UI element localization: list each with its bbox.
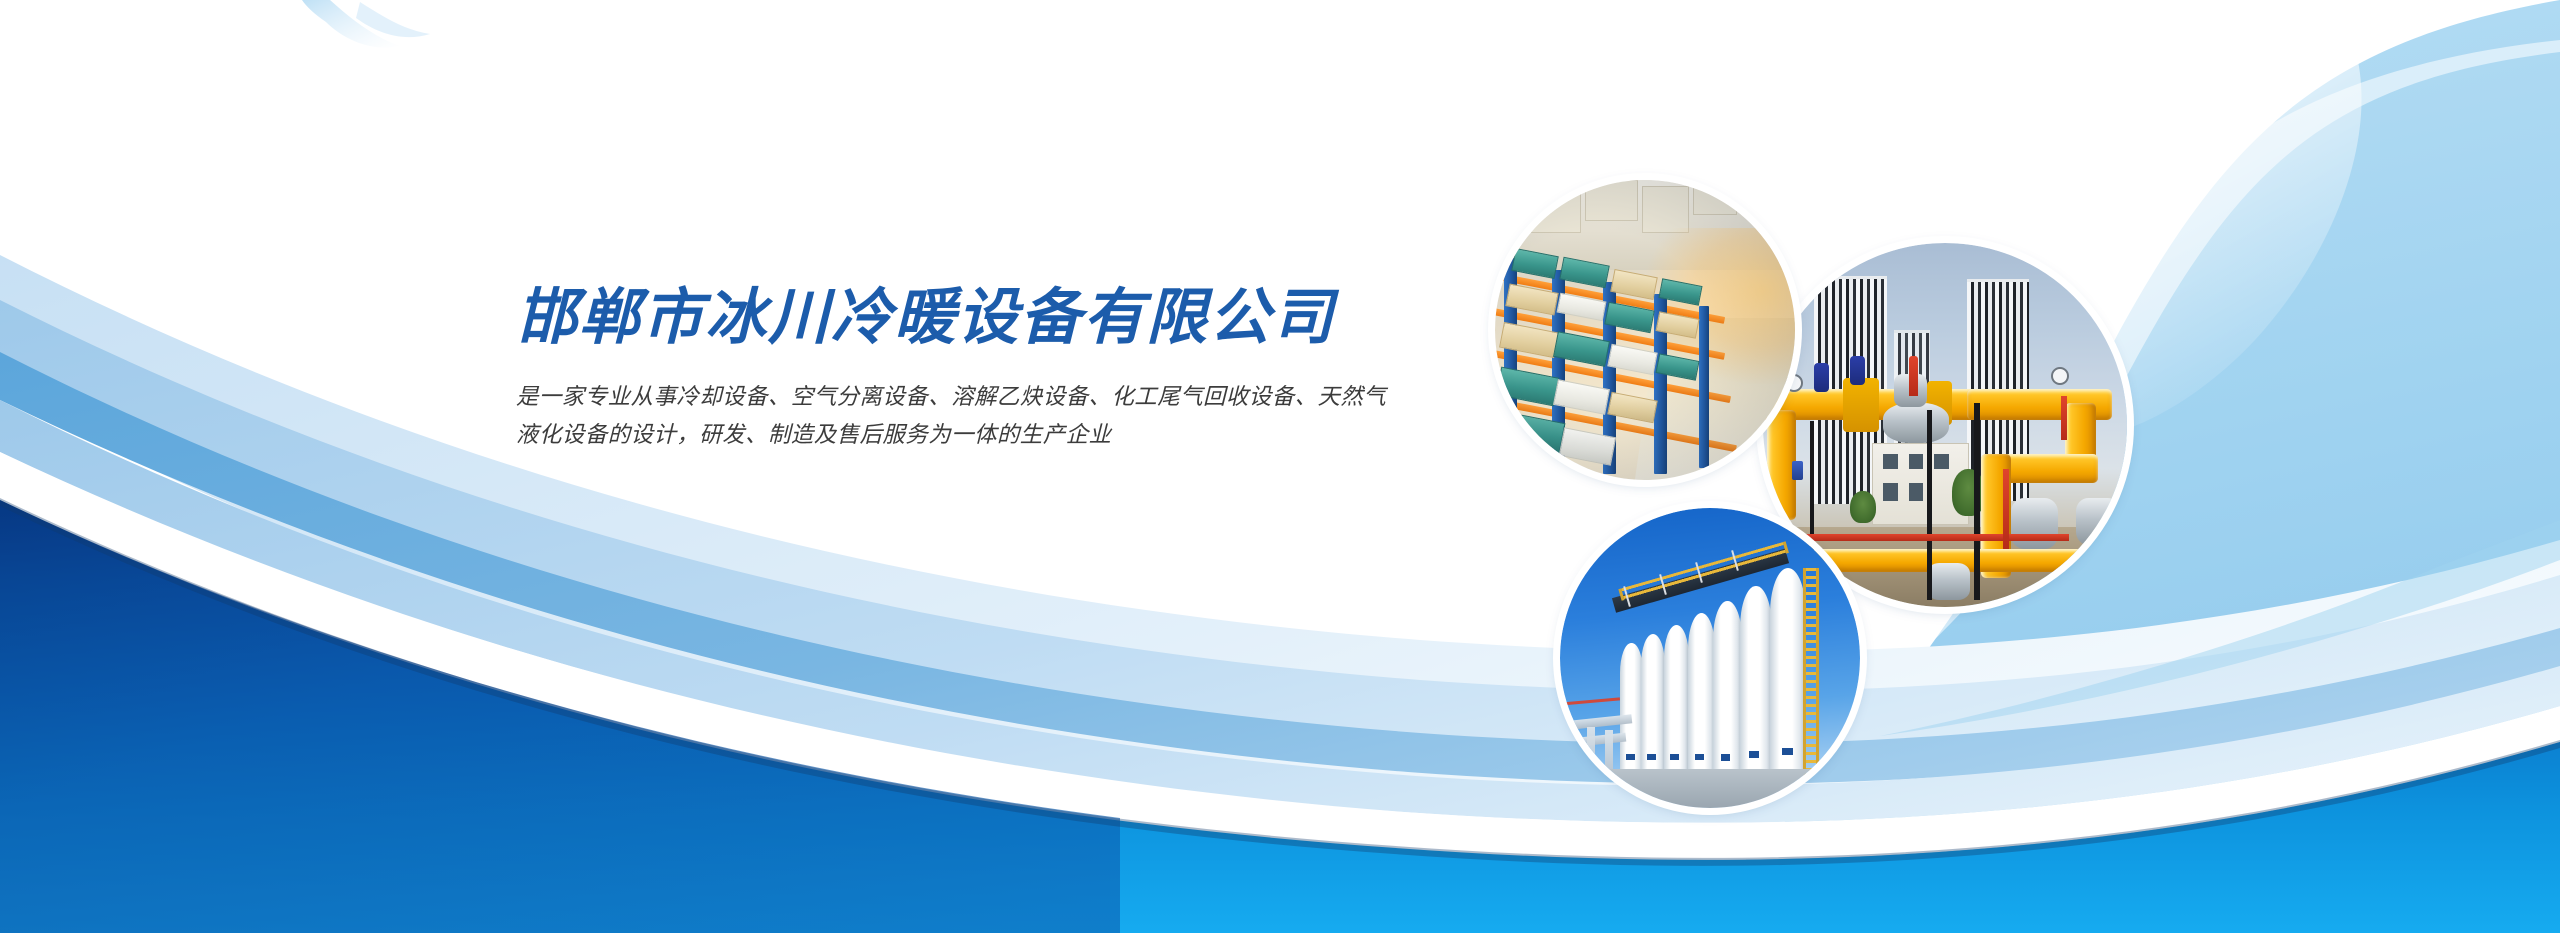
tank-nameplate (1647, 754, 1656, 760)
pipeline-regulator (1883, 403, 1949, 443)
building-window (1934, 454, 1949, 469)
pipeline-steel-valve (2076, 498, 2120, 545)
water-bubble-small-icon (2381, 29, 2395, 43)
tank-photo-inner (1560, 508, 1860, 808)
background-wave-graphic (0, 0, 2560, 933)
tank-nameplate (1749, 751, 1759, 758)
water-bubble-icon (2349, 33, 2375, 59)
building-window (1883, 483, 1898, 501)
building-window (1909, 454, 1924, 469)
warehouse-storage-photo[interactable] (1495, 180, 1795, 480)
tank-access-ladder (1803, 568, 1819, 784)
tank-nameplate (1670, 754, 1679, 760)
pipeline-steel-valve (2011, 498, 2058, 549)
pipeline-blue-fitting (1850, 356, 1865, 385)
tank-nameplate (1721, 754, 1731, 761)
pipeline-steel-valve (1927, 563, 1971, 599)
tank-nameplate (1626, 754, 1635, 760)
cryogenic-tank-farm-photo[interactable] (1560, 508, 1860, 808)
pipeline-support-rod (1927, 410, 1932, 599)
building-window (1883, 454, 1898, 469)
pipeline-support-rod (1974, 403, 1980, 600)
pressure-gauge-icon (2051, 367, 2069, 385)
cryogenic-tank (1713, 601, 1742, 778)
company-description-line-1: 是一家专业从事冷却设备、空气分离设备、溶解乙炔设备、化工尾气回收设备、天然气 (516, 378, 1526, 416)
pipeline-valve-body (1843, 378, 1879, 433)
pipeline-red-riser (2061, 396, 2066, 440)
tank-nameplate (1782, 748, 1793, 755)
tank-ground (1560, 769, 1860, 808)
company-hero-banner: 邯郸市冰川冷暖设备有限公司 是一家专业从事冷却设备、空气分离设备、溶解乙炔设备、… (0, 0, 2560, 933)
pipeline-red-stack (1909, 356, 1918, 396)
cryogenic-tank (1740, 586, 1772, 778)
cryogenic-tank (1770, 568, 1806, 778)
company-description-line-2: 液化设备的设计，研发、制造及售后服务为一体的生产企业 (516, 416, 1526, 454)
company-description: 是一家专业从事冷却设备、空气分离设备、溶解乙炔设备、化工尾气回收设备、天然气 液… (516, 352, 1526, 454)
tank-nameplate (1695, 754, 1704, 760)
warehouse-vignette (1495, 180, 1795, 480)
company-title: 邯郸市冰川冷暖设备有限公司 (516, 286, 1526, 352)
banner-text-block: 邯郸市冰川冷暖设备有限公司 是一家专业从事冷却设备、空气分离设备、溶解乙炔设备、… (516, 286, 1526, 454)
pipeline-blue-fitting (1814, 363, 1829, 392)
building-window (1909, 483, 1924, 501)
pipeline-red-riser (2003, 469, 2009, 549)
warehouse-photo-inner (1495, 180, 1795, 480)
